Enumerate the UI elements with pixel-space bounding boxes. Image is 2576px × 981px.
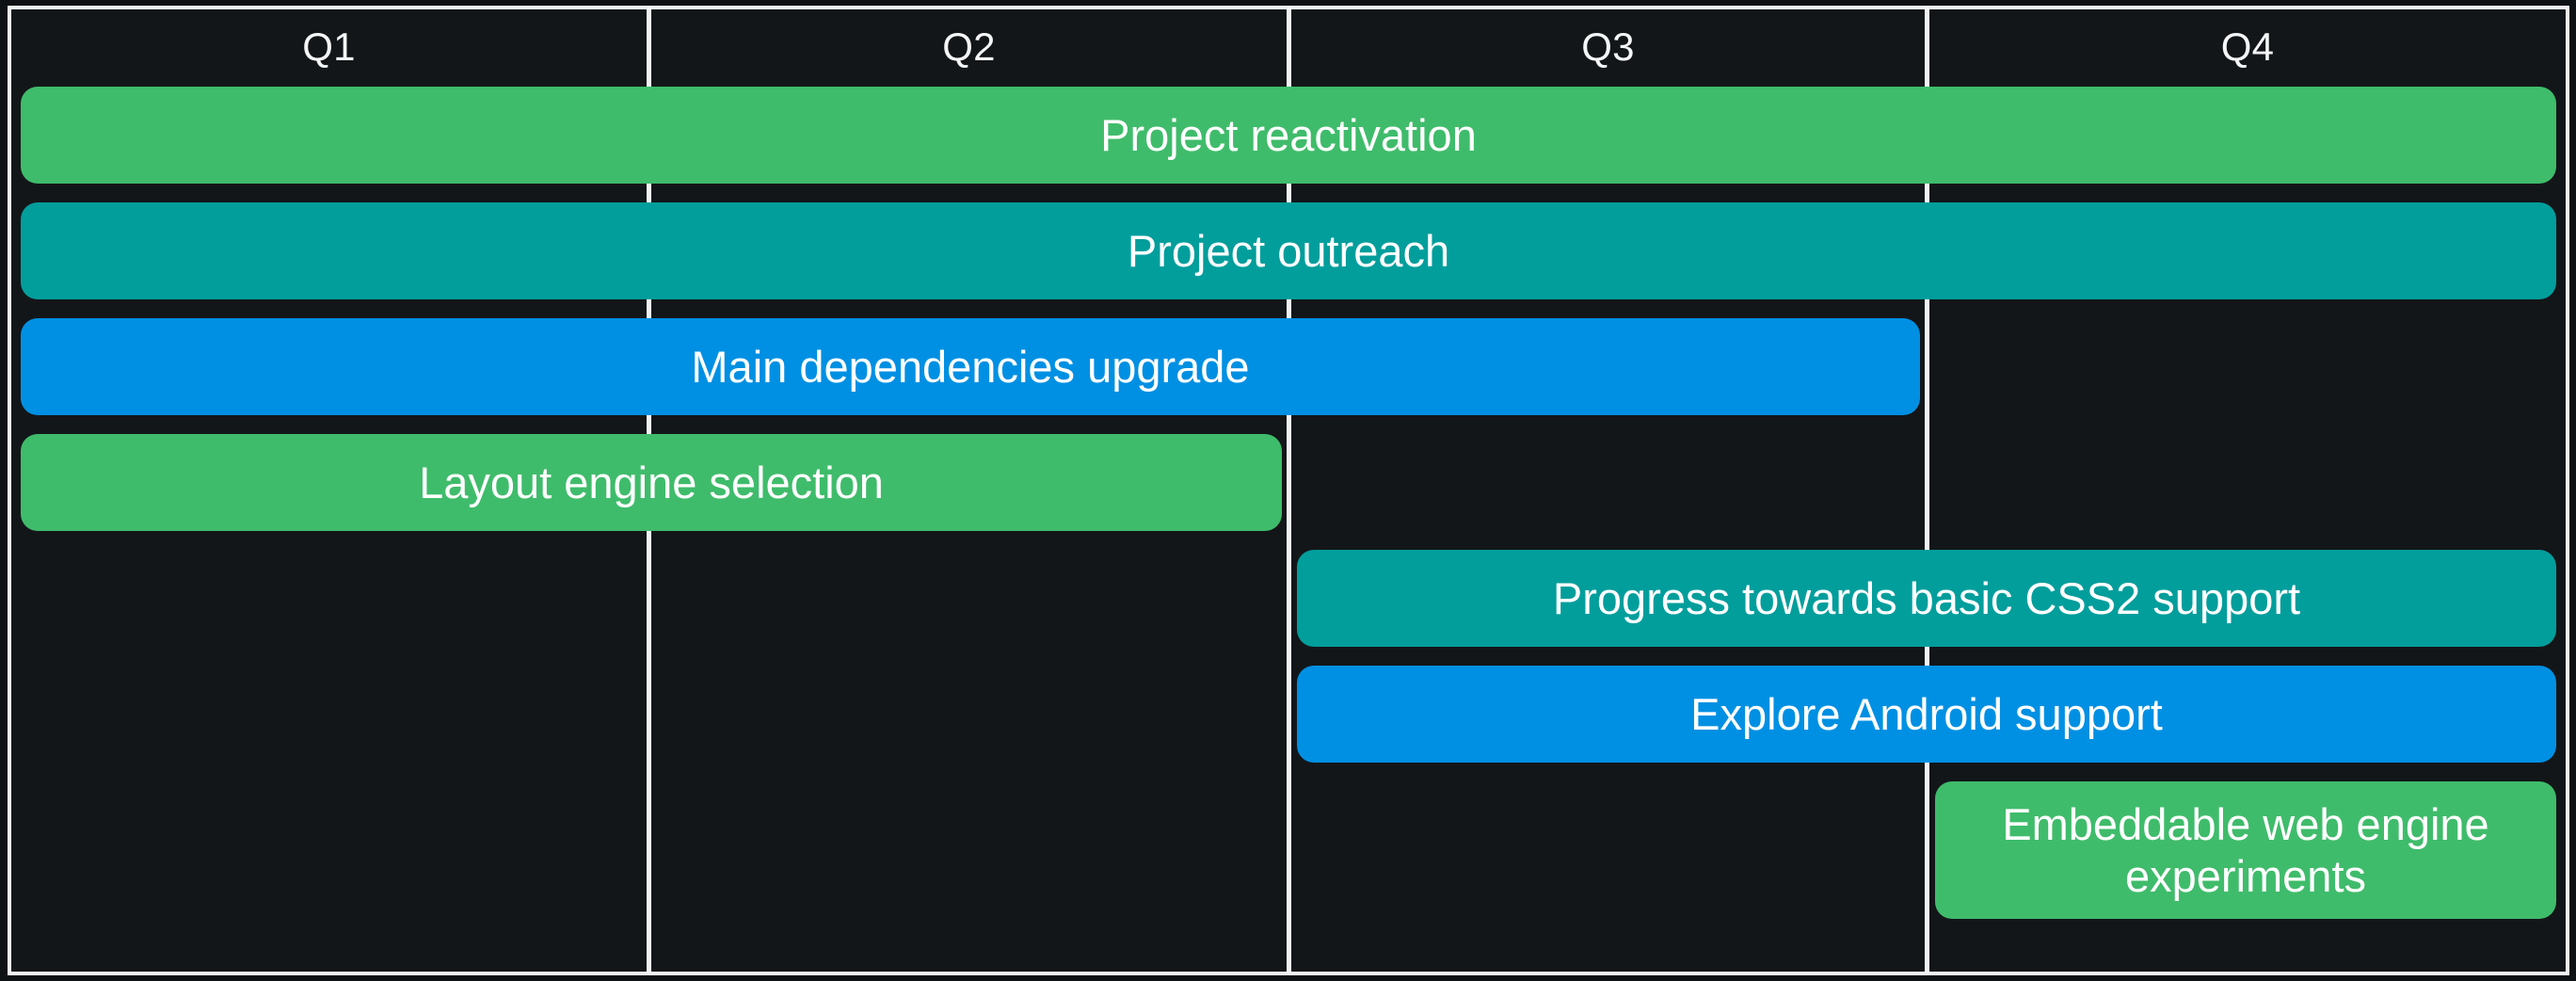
task-bar-explore-android-support[interactable]: Explore Android support [1297, 666, 2556, 763]
task-bar-project-reactivation[interactable]: Project reactivation [21, 87, 2556, 184]
task-bar-label: Project outreach [34, 225, 2543, 277]
task-bar-project-outreach[interactable]: Project outreach [21, 202, 2556, 299]
task-bar-label: Embeddable web engine experiments [1948, 798, 2543, 903]
task-bars-layer: Project reactivation Project outreach Ma… [11, 9, 2566, 972]
task-bar-main-dependencies-upgrade[interactable]: Main dependencies upgrade [21, 318, 1920, 415]
task-bar-layout-engine-selection[interactable]: Layout engine selection [21, 434, 1282, 531]
task-bar-embeddable-web-engine-experiments[interactable]: Embeddable web engine experiments [1935, 781, 2556, 919]
roadmap-frame: Q1 Q2 Q3 Q4 Project reactivation Project… [8, 6, 2569, 975]
task-bar-label: Project reactivation [34, 109, 2543, 161]
task-bar-label: Progress towards basic CSS2 support [1310, 572, 2543, 624]
task-bar-label: Explore Android support [1310, 688, 2543, 740]
task-bar-label: Layout engine selection [34, 457, 1269, 508]
task-bar-label: Main dependencies upgrade [34, 341, 1907, 393]
roadmap-chart: Q1 Q2 Q3 Q4 Project reactivation Project… [0, 0, 2576, 981]
task-bar-progress-towards-basic-css2-support[interactable]: Progress towards basic CSS2 support [1297, 550, 2556, 647]
